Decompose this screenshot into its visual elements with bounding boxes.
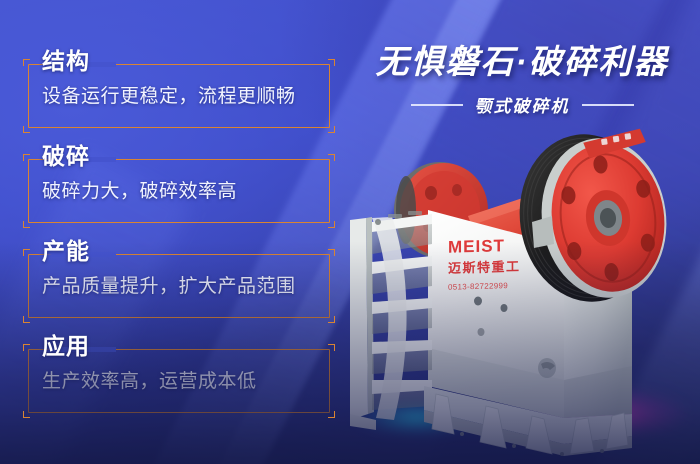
feature-item-capacity[interactable]: 产能 产品质量提升，扩大产品范围 [28,236,330,322]
corner-mark-top-right [328,154,335,161]
corner-mark-top-right [328,249,335,256]
feature-description: 生产效率高，运营成本低 [42,367,320,397]
corner-mark-top-left [23,344,30,351]
feature-list: 结构 设备运行更稳定，流程更顺畅 破碎 破碎力大，破碎效率高 产能 产品质量提升… [28,46,330,426]
feed-ribs [348,211,432,430]
corner-mark-bottom-right [328,221,335,228]
corner-mark-top-left [23,154,30,161]
rule-right-icon [582,104,634,106]
rule-left-icon [411,104,463,106]
feature-title: 破碎 [42,141,90,171]
promo-banner: MEIST 迈斯特重工 0513-82722999 无惧磐石·破碎利器 颚式破碎… [0,0,700,464]
corner-mark-top-left [23,249,30,256]
headline-main: 无惧磐石·破碎利器 [352,42,692,82]
headline-block: 无惧磐石·破碎利器 颚式破碎机 [352,42,692,117]
headline-sub-row: 颚式破碎机 [352,92,692,117]
corner-mark-bottom-right [328,411,335,418]
jaw-crusher-illustration [336,118,700,464]
feature-item-application[interactable]: 应用 生产效率高，运营成本低 [28,331,330,417]
corner-mark-bottom-right [328,316,335,323]
corner-mark-bottom-left [23,316,30,323]
corner-mark-bottom-left [23,221,30,228]
feature-item-structure[interactable]: 结构 设备运行更稳定，流程更顺畅 [28,46,330,132]
feature-title: 结构 [42,46,90,76]
headline-subtitle: 颚式破碎机 [475,92,570,117]
feature-description: 产品质量提升，扩大产品范围 [42,272,320,302]
feature-description: 设备运行更稳定，流程更顺畅 [42,82,320,112]
feature-item-crushing[interactable]: 破碎 破碎力大，破碎效率高 [28,141,330,227]
corner-mark-bottom-left [23,411,30,418]
feature-title: 产能 [42,236,90,266]
corner-mark-top-left [23,59,30,66]
corner-mark-top-right [328,59,335,66]
corner-mark-bottom-left [23,126,30,133]
corner-mark-bottom-right [328,126,335,133]
feature-description: 破碎力大，破碎效率高 [42,177,320,207]
corner-mark-top-right [328,344,335,351]
feature-title: 应用 [42,331,90,361]
